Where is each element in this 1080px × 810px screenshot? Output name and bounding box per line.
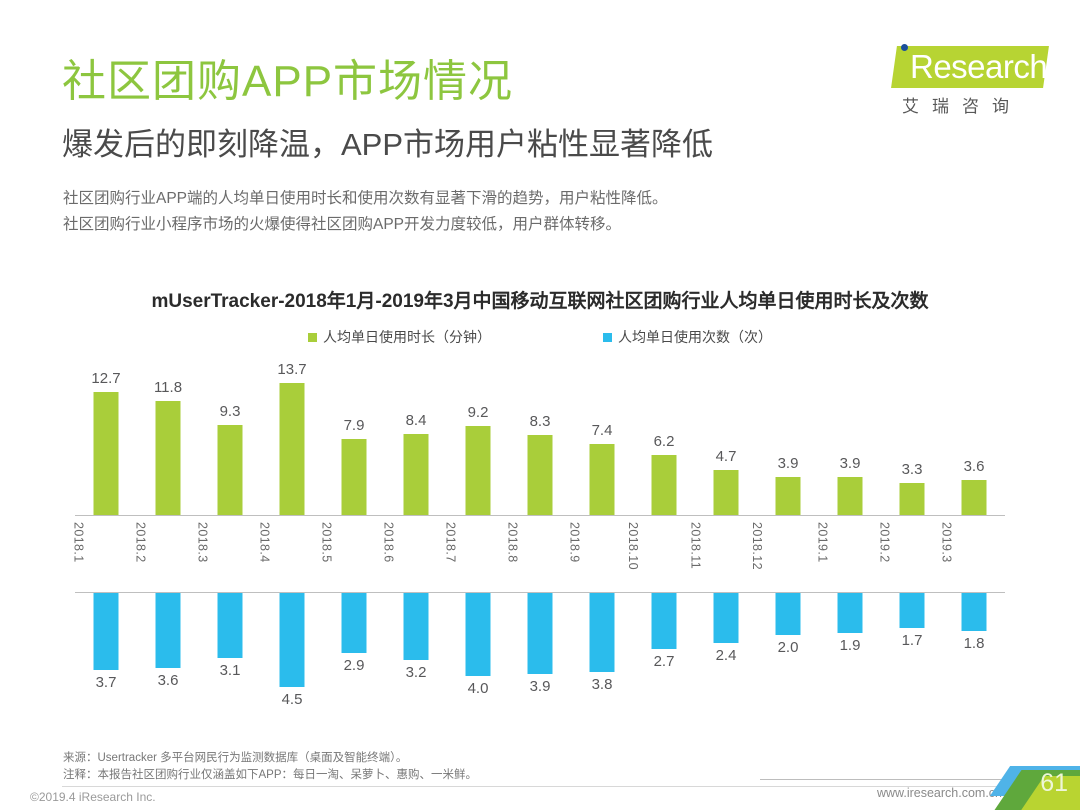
bar-group-duration: 8.4 [385, 356, 447, 515]
bar-value-label-duration: 13.7 [277, 361, 306, 378]
bar-value-label-frequency: 3.1 [220, 662, 241, 679]
bar-value-label-duration: 3.9 [778, 455, 799, 472]
bar-group-frequency: 4.0 [447, 593, 509, 703]
bar-frequency[interactable] [156, 593, 181, 668]
page-subtitle: 爆发后的即刻降温，APP市场用户粘性显著降低 [62, 126, 713, 164]
x-axis-label: 2018.10 [626, 522, 640, 570]
chart-column: 3.92019.11.9 [819, 356, 881, 736]
bar-value-label-duration: 7.4 [592, 422, 613, 439]
note-source: 来源：Usertracker 多平台网民行为监测数据库（桌面及智能终端）。 [63, 750, 477, 767]
x-axis-label: 2018.5 [320, 522, 334, 563]
bar-group-duration: 6.2 [633, 356, 695, 515]
chart-column: 8.32018.83.9 [509, 356, 571, 736]
note-coverage: 注释：本报告社区团购行业仅涵盖如下APP：每日一淘、呆萝卜、惠购、一米鲜。 [63, 767, 477, 784]
page-number: 61 [1040, 769, 1068, 798]
bar-group-duration: 7.9 [323, 356, 385, 515]
bar-duration[interactable] [156, 401, 181, 515]
x-axis-label: 2019.2 [878, 522, 892, 563]
bar-value-label-frequency: 3.6 [158, 672, 179, 689]
chart-plot-area: 12.72018.13.711.82018.23.69.32018.33.113… [75, 356, 1005, 736]
bar-group-frequency: 3.8 [571, 593, 633, 703]
lede-paragraph: 社区团购行业APP端的人均单日使用时长和使用次数有显著下滑的趋势，用户粘性降低。… [63, 186, 668, 238]
bar-value-label-frequency: 3.8 [592, 676, 613, 693]
page-title: 社区团购APP市场情况 [62, 56, 513, 108]
bar-value-label-frequency: 1.9 [840, 637, 861, 654]
x-axis-label: 2018.2 [134, 522, 148, 563]
iresearch-logo: Research 艾瑞咨询 [858, 38, 1054, 126]
bar-frequency[interactable] [94, 593, 119, 670]
chart-notes: 来源：Usertracker 多平台网民行为监测数据库（桌面及智能终端）。 注释… [63, 750, 477, 784]
logo-chinese-name: 艾瑞咨询 [902, 92, 1022, 117]
bar-frequency[interactable] [652, 593, 677, 649]
copyright-text: ©2019.4 iResearch Inc. [30, 790, 156, 804]
bar-value-label-duration: 8.3 [530, 413, 551, 430]
bar-value-label-frequency: 4.5 [282, 691, 303, 708]
legend-item-frequency: 人均单日使用次数（次） [603, 327, 772, 347]
logo-letter-i-stem [901, 54, 908, 84]
bar-frequency[interactable] [342, 593, 367, 653]
x-axis-label: 2018.7 [444, 522, 458, 563]
bar-group-frequency: 1.8 [943, 593, 1005, 703]
bar-frequency[interactable] [466, 593, 491, 676]
bar-group-frequency: 2.9 [323, 593, 385, 703]
website-divider [760, 779, 1002, 780]
chart-column: 13.72018.44.5 [261, 356, 323, 736]
chart-column: 3.32019.21.7 [881, 356, 943, 736]
bar-duration[interactable] [900, 483, 925, 515]
bar-value-label-duration: 4.7 [716, 448, 737, 465]
chart-column: 8.42018.63.2 [385, 356, 447, 736]
bar-group-duration: 9.3 [199, 356, 261, 515]
bar-value-label-frequency: 2.0 [778, 639, 799, 656]
bar-frequency[interactable] [528, 593, 553, 674]
x-axis-label: 2018.11 [688, 522, 702, 569]
bar-duration[interactable] [962, 480, 987, 515]
x-axis-label: 2019.1 [816, 522, 830, 563]
bar-value-label-frequency: 1.8 [964, 635, 985, 652]
bar-group-frequency: 3.9 [509, 593, 571, 703]
bar-value-label-duration: 9.3 [220, 403, 241, 420]
bar-value-label-duration: 11.8 [154, 379, 182, 396]
bar-group-duration: 3.9 [819, 356, 881, 515]
bar-group-duration: 3.3 [881, 356, 943, 515]
bar-group-duration: 4.7 [695, 356, 757, 515]
x-axis-label: 2018.8 [506, 522, 520, 563]
bar-group-duration: 13.7 [261, 356, 323, 515]
bar-value-label-duration: 6.2 [654, 433, 675, 450]
bar-value-label-frequency: 2.7 [654, 653, 675, 670]
bar-value-label-duration: 3.3 [902, 461, 923, 478]
bar-group-duration: 9.2 [447, 356, 509, 515]
chart-column: 7.92018.52.9 [323, 356, 385, 736]
bar-value-label-frequency: 3.2 [406, 664, 427, 681]
chart-column: 12.72018.13.7 [75, 356, 137, 736]
bar-duration[interactable] [714, 470, 739, 515]
chart-column: 6.22018.102.7 [633, 356, 695, 736]
bar-group-frequency: 3.1 [199, 593, 261, 703]
bar-value-label-duration: 3.9 [840, 455, 861, 472]
chart-column: 4.72018.112.4 [695, 356, 757, 736]
bar-value-label-frequency: 2.9 [344, 657, 365, 674]
bar-duration[interactable] [838, 477, 863, 515]
legend-swatch-blue [603, 333, 612, 342]
x-axis-label: 2018.9 [568, 522, 582, 563]
bar-value-label-duration: 12.7 [91, 370, 120, 387]
x-axis-label: 2018.12 [750, 522, 764, 570]
bar-group-frequency: 3.6 [137, 593, 199, 703]
bar-duration[interactable] [776, 477, 801, 515]
bar-duration[interactable] [280, 383, 305, 515]
bar-value-label-frequency: 1.7 [902, 632, 923, 649]
logo-letter-i-dot-icon [901, 44, 908, 51]
bar-group-frequency: 1.9 [819, 593, 881, 703]
bar-group-frequency: 3.2 [385, 593, 447, 703]
bar-frequency[interactable] [404, 593, 429, 660]
logo-wordmark: Research [910, 49, 1047, 85]
bar-group-frequency: 2.4 [695, 593, 757, 703]
bar-frequency[interactable] [900, 593, 925, 628]
bar-duration[interactable] [94, 392, 119, 515]
bar-frequency[interactable] [280, 593, 305, 687]
bar-value-label-duration: 9.2 [468, 404, 489, 421]
bar-frequency[interactable] [218, 593, 243, 658]
legend-swatch-green [308, 333, 317, 342]
bar-group-frequency: 1.7 [881, 593, 943, 703]
legend-label-duration: 人均单日使用时长（分钟） [323, 327, 491, 347]
bar-duration[interactable] [466, 426, 491, 515]
x-axis-label: 2018.3 [196, 522, 210, 563]
bar-group-duration: 8.3 [509, 356, 571, 515]
lede-line-1: 社区团购行业APP端的人均单日使用时长和使用次数有显著下滑的趋势，用户粘性降低。 [63, 186, 668, 212]
bar-value-label-duration: 3.6 [964, 458, 985, 475]
footer-divider [62, 786, 1018, 787]
x-axis-label: 2018.6 [382, 522, 396, 563]
bar-value-label-duration: 7.9 [344, 417, 365, 434]
bar-value-label-frequency: 4.0 [468, 680, 489, 697]
chart-legend: 人均单日使用时长（分钟） 人均单日使用次数（次） [0, 327, 1080, 347]
bar-duration[interactable] [652, 455, 677, 515]
bar-duration[interactable] [342, 439, 367, 515]
bar-frequency[interactable] [590, 593, 615, 672]
chart-column: 11.82018.23.6 [137, 356, 199, 736]
bar-group-frequency: 4.5 [261, 593, 323, 703]
chart-column: 3.92018.122.0 [757, 356, 819, 736]
bar-group-frequency: 2.0 [757, 593, 819, 703]
bar-value-label-frequency: 3.9 [530, 678, 551, 695]
bar-value-label-frequency: 3.7 [96, 674, 117, 691]
bar-value-label-frequency: 2.4 [716, 647, 737, 664]
chart-column: 9.22018.74.0 [447, 356, 509, 736]
bar-frequency[interactable] [776, 593, 801, 635]
bar-frequency[interactable] [714, 593, 739, 643]
legend-item-duration: 人均单日使用时长（分钟） [308, 327, 491, 347]
bar-group-duration: 12.7 [75, 356, 137, 515]
x-axis-label: 2018.1 [72, 522, 86, 563]
legend-label-frequency: 人均单日使用次数（次） [618, 327, 772, 347]
chart-column: 7.42018.93.8 [571, 356, 633, 736]
bar-group-duration: 3.6 [943, 356, 1005, 515]
x-axis-label: 2018.4 [258, 522, 272, 563]
bar-duration[interactable] [404, 434, 429, 515]
bar-value-label-duration: 8.4 [406, 412, 427, 429]
bar-frequency[interactable] [838, 593, 863, 633]
bar-group-duration: 3.9 [757, 356, 819, 515]
bar-group-duration: 11.8 [137, 356, 199, 515]
chart-column: 9.32018.33.1 [199, 356, 261, 736]
x-axis-label: 2019.3 [940, 522, 954, 563]
bar-duration[interactable] [528, 435, 553, 515]
bar-duration[interactable] [218, 425, 243, 515]
bar-group-frequency: 3.7 [75, 593, 137, 703]
chart-column: 3.62019.31.8 [943, 356, 1005, 736]
bar-frequency[interactable] [962, 593, 987, 631]
bar-duration[interactable] [590, 444, 615, 515]
chart-title: mUserTracker-2018年1月-2019年3月中国移动互联网社区团购行… [0, 286, 1080, 313]
bar-group-frequency: 2.7 [633, 593, 695, 703]
lede-line-2: 社区团购行业小程序市场的火爆使得社区团购APP开发力度较低，用户群体转移。 [63, 212, 668, 238]
bar-group-duration: 7.4 [571, 356, 633, 515]
